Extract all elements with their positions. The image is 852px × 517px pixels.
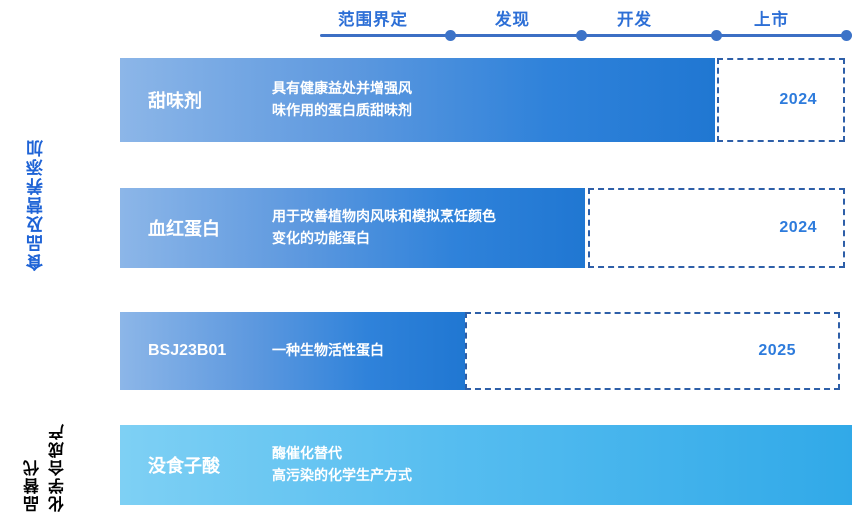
row-product-description: 酶催化替代 高污染的化学生产方式: [272, 443, 412, 486]
row-bar-progress: 没食子酸 酶催化替代 高污染的化学生产方式: [120, 425, 852, 505]
roadmap-canvas: 范围界定 发现 开发 上市 食品及营养添加 化学合成产 品替代 甜味剂 具有健康…: [0, 0, 852, 517]
row-target-year: 2024: [779, 91, 817, 109]
timeline-dot-3: [711, 30, 722, 41]
row-product-name: BSJ23B01: [148, 342, 266, 360]
roadmap-row-sweetener[interactable]: 甜味剂 具有健康益处并增强风 味作用的蛋白质甜味剂 2024: [120, 58, 852, 142]
row-target-year: 2024: [779, 219, 817, 237]
timeline-stage-discovery: 发现: [495, 6, 530, 30]
timeline-header: 范围界定 发现 开发 上市: [320, 4, 852, 44]
row-target-box: 2025: [465, 312, 840, 390]
row-target-box: 2024: [717, 58, 845, 142]
row-product-description: 具有健康益处并增强风 味作用的蛋白质甜味剂: [272, 78, 412, 121]
category-label-chemical-substitution: 化学合成产 品替代: [22, 408, 71, 512]
category-label-food-nutrition: 食品及营养添加: [24, 138, 49, 271]
roadmap-row-bsj23b01[interactable]: BSJ23B01 一种生物活性蛋白 2025: [120, 312, 852, 390]
row-product-description: 用于改善植物肉风味和模拟烹饪颜色 变化的功能蛋白: [272, 206, 496, 249]
row-bar-progress: BSJ23B01 一种生物活性蛋白: [120, 312, 465, 390]
row-product-name: 甜味剂: [148, 87, 266, 113]
roadmap-row-gallic-acid[interactable]: 没食子酸 酶催化替代 高污染的化学生产方式: [120, 425, 852, 505]
roadmap-row-hemoglobin[interactable]: 血红蛋白 用于改善植物肉风味和模拟烹饪颜色 变化的功能蛋白 2024: [120, 188, 852, 268]
category-label-chemical-substitution-line2: 品替代: [22, 408, 46, 512]
row-target-box: 2024: [588, 188, 845, 268]
timeline-stage-scoping: 范围界定: [338, 6, 408, 30]
timeline-dot-4: [841, 30, 852, 41]
row-bar-progress: 血红蛋白 用于改善植物肉风味和模拟烹饪颜色 变化的功能蛋白: [120, 188, 585, 268]
category-label-chemical-substitution-line1: 化学合成产: [47, 408, 71, 512]
row-bar-progress: 甜味剂 具有健康益处并增强风 味作用的蛋白质甜味剂: [120, 58, 715, 142]
timeline-dot-2: [576, 30, 587, 41]
timeline-dot-1: [445, 30, 456, 41]
row-product-name: 没食子酸: [148, 452, 266, 478]
row-target-year: 2025: [758, 342, 796, 360]
timeline-stage-development: 开发: [617, 6, 652, 30]
row-product-description: 一种生物活性蛋白: [272, 340, 384, 362]
timeline-stage-launch: 上市: [754, 6, 789, 30]
row-product-name: 血红蛋白: [148, 215, 266, 241]
